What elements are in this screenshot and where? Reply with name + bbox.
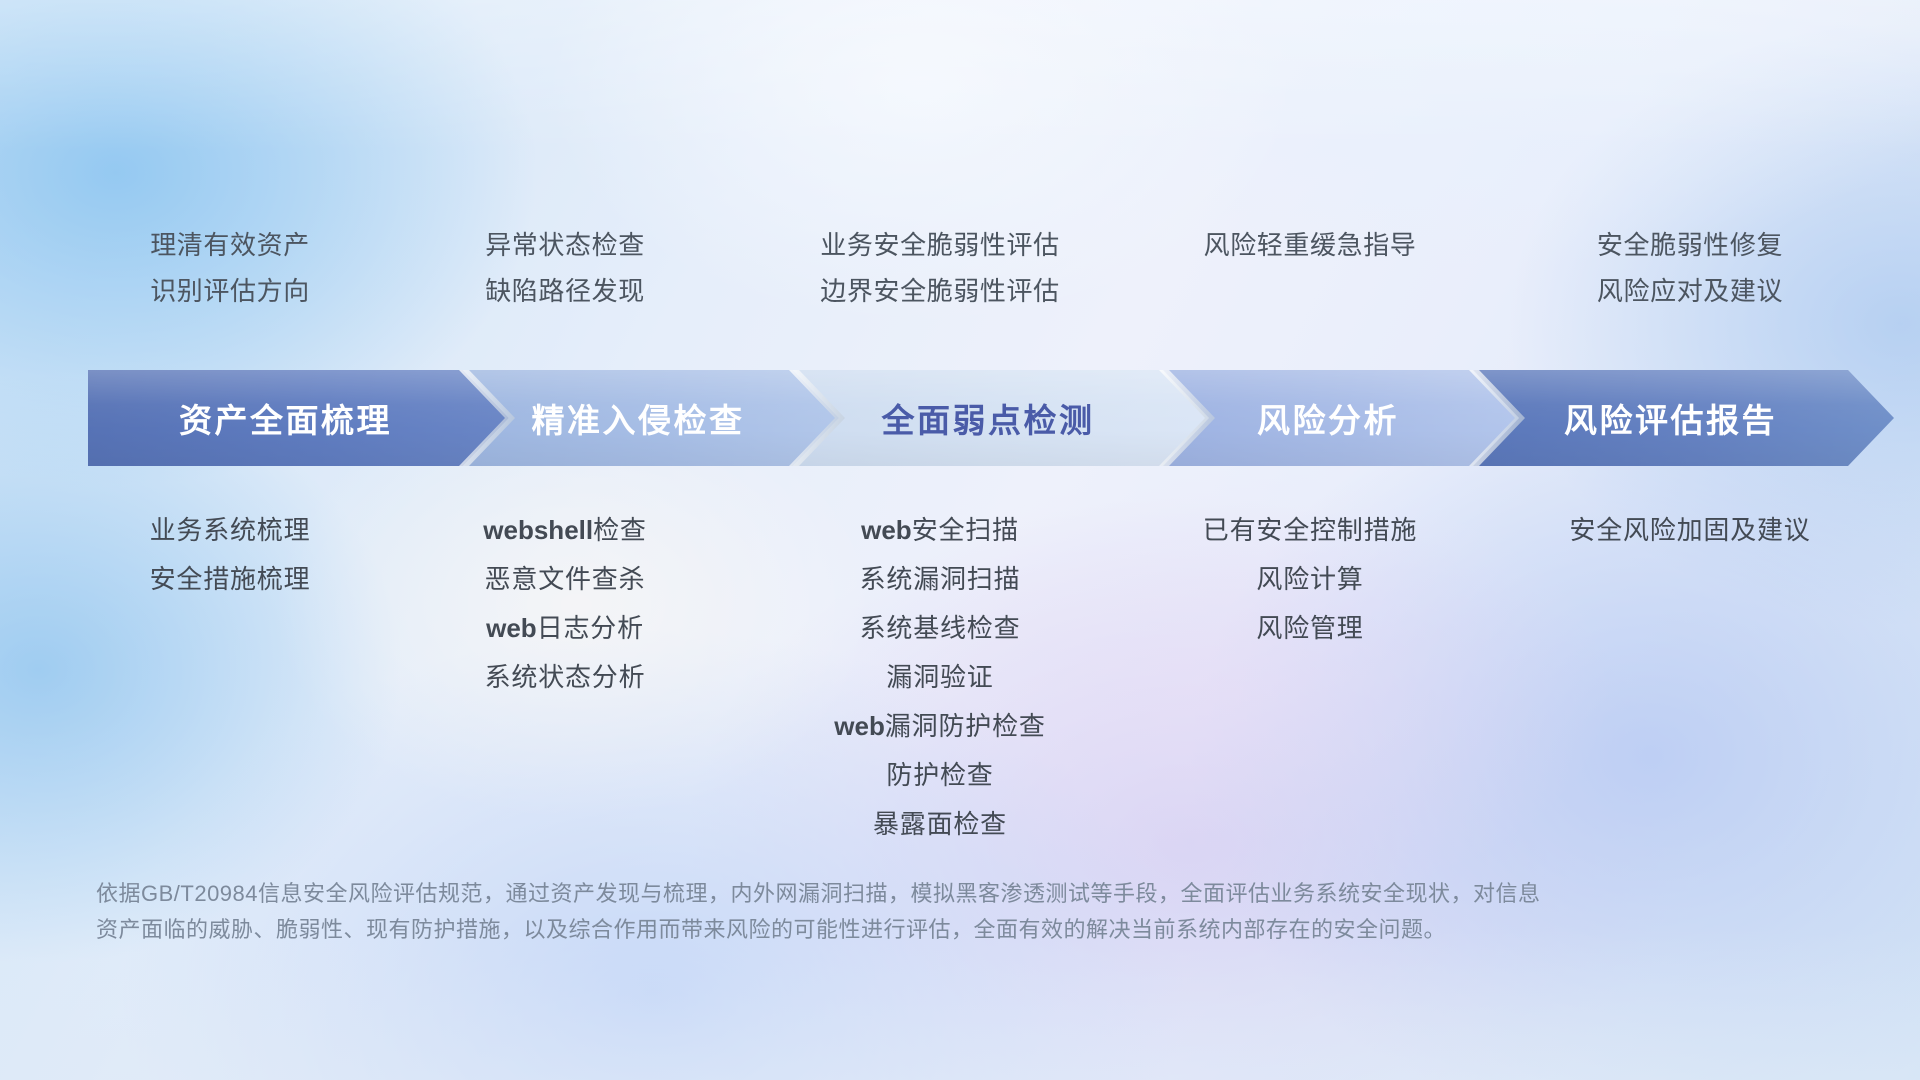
detail-item-text: 防护检查 [886,760,993,790]
detail-item-text: 已有安全控制措施 [1203,515,1417,545]
top-caption-column-5: 安全脆弱性修复风险应对及建议 [1390,222,1920,314]
detail-item-text: 漏洞防护检查 [885,711,1046,741]
process-stage-label: 风险分析 [1257,394,1399,442]
detail-item-text: 暴露面检查 [873,809,1007,839]
detail-item-latin: web [834,711,885,741]
process-chevron-band: 资产全面梳理精准入侵检查全面弱点检测风险分析风险评估报告 [88,370,1848,466]
detail-item-text: 系统状态分析 [485,662,646,692]
process-stage-3[interactable]: 全面弱点检测 [793,370,1209,466]
process-stage-label: 全面弱点检测 [882,394,1095,442]
process-stage-4[interactable]: 风险分析 [1163,370,1519,466]
detail-item: 安全风险加固及建议 [1390,506,1920,555]
detail-item: web漏洞防护检查 [640,702,1240,751]
detail-item-text: 风险计算 [1256,564,1363,594]
detail-item: 防护检查 [640,751,1240,800]
detail-item-text: 系统基线检查 [860,613,1021,643]
bottom-detail-columns: 业务系统梳理安全措施梳理webshell检查恶意文件查杀web日志分析系统状态分… [0,506,1920,846]
footer-line: 依据GB/T20984信息安全风险评估规范，通过资产发现与梳理，内外网漏洞扫描，… [96,876,1736,912]
top-caption-line: 安全脆弱性修复 [1390,222,1920,268]
detail-item-text: 漏洞验证 [886,662,993,692]
footer-line: 资产面临的威胁、脆弱性、现有防护措施，以及综合作用而带来风险的可能性进行评估，全… [96,912,1736,948]
detail-item: 风险计算 [1010,555,1610,604]
process-stage-label: 精准入侵检查 [532,394,745,442]
detail-item-text: 安全扫描 [912,515,1019,545]
top-caption-line: 风险应对及建议 [1390,268,1920,314]
infographic-canvas: 理清有效资产识别评估方向异常状态检查缺陷路径发现业务安全脆弱性评估边界安全脆弱性… [0,0,1920,1080]
process-stage-label: 风险评估报告 [1564,394,1777,442]
detail-column-5: 安全风险加固及建议 [1390,506,1920,555]
detail-item-latin: web [861,515,912,545]
detail-item-text: 日志分析 [537,613,644,643]
detail-item: 暴露面检查 [640,800,1240,849]
process-stage-label: 资产全面梳理 [179,394,392,442]
detail-item-latin: web [486,613,537,643]
detail-item-text: 检查 [593,515,647,545]
detail-item-text: 系统漏洞扫描 [860,564,1021,594]
detail-item-text: 安全风险加固及建议 [1569,515,1810,545]
process-stage-1[interactable]: 资产全面梳理 [88,370,509,466]
detail-item: 风险管理 [1010,604,1610,653]
top-captions-row: 理清有效资产识别评估方向异常状态检查缺陷路径发现业务安全脆弱性评估边界安全脆弱性… [0,222,1920,342]
detail-item-latin: webshell [483,515,593,545]
detail-item-text: 风险管理 [1256,613,1363,643]
detail-item-text: 恶意文件查杀 [485,564,646,594]
top-caption-line: 边界安全脆弱性评估 [640,268,1240,314]
detail-item: 漏洞验证 [640,653,1240,702]
footer-description: 依据GB/T20984信息安全风险评估规范，通过资产发现与梳理，内外网漏洞扫描，… [96,876,1736,948]
process-stage-5[interactable]: 风险评估报告 [1473,370,1894,466]
process-stage-2[interactable]: 精准入侵检查 [463,370,839,466]
